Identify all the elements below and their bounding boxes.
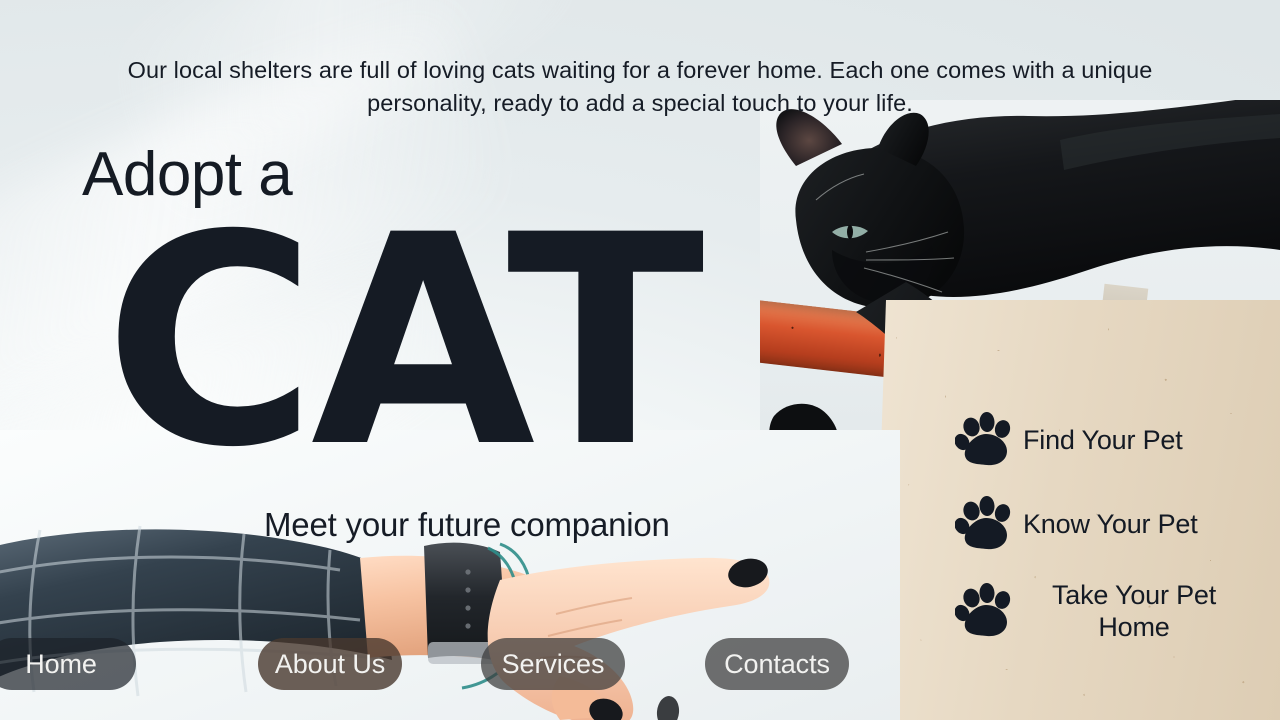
tagline: Meet your future companion	[264, 508, 670, 541]
feature-item[interactable]: Know Your Pet	[955, 496, 1245, 554]
nav-item-services[interactable]: Services	[481, 638, 625, 690]
page-title: CAT	[104, 218, 699, 467]
main-navigation: Home About Us Services Contacts	[0, 638, 1280, 690]
nav-item-about-us[interactable]: About Us	[258, 638, 402, 690]
feature-label: Find Your Pet	[1023, 425, 1183, 457]
paw-print-icon	[955, 583, 1015, 641]
paw-print-icon	[955, 412, 1015, 470]
nav-item-home[interactable]: Home	[0, 638, 136, 690]
hero-banner: Our local shelters are full of loving ca…	[0, 0, 1280, 720]
paw-print-icon	[955, 496, 1015, 554]
feature-item[interactable]: Find Your Pet	[955, 412, 1245, 470]
intro-paragraph: Our local shelters are full of loving ca…	[90, 54, 1190, 121]
feature-label: Take Your Pet Home	[1023, 580, 1245, 644]
feature-label: Know Your Pet	[1023, 509, 1198, 541]
feature-list: Find Your Pet Know Your Pet Take Your Pe…	[955, 412, 1245, 644]
feature-item[interactable]: Take Your Pet Home	[955, 580, 1245, 644]
nav-item-contacts[interactable]: Contacts	[705, 638, 849, 690]
